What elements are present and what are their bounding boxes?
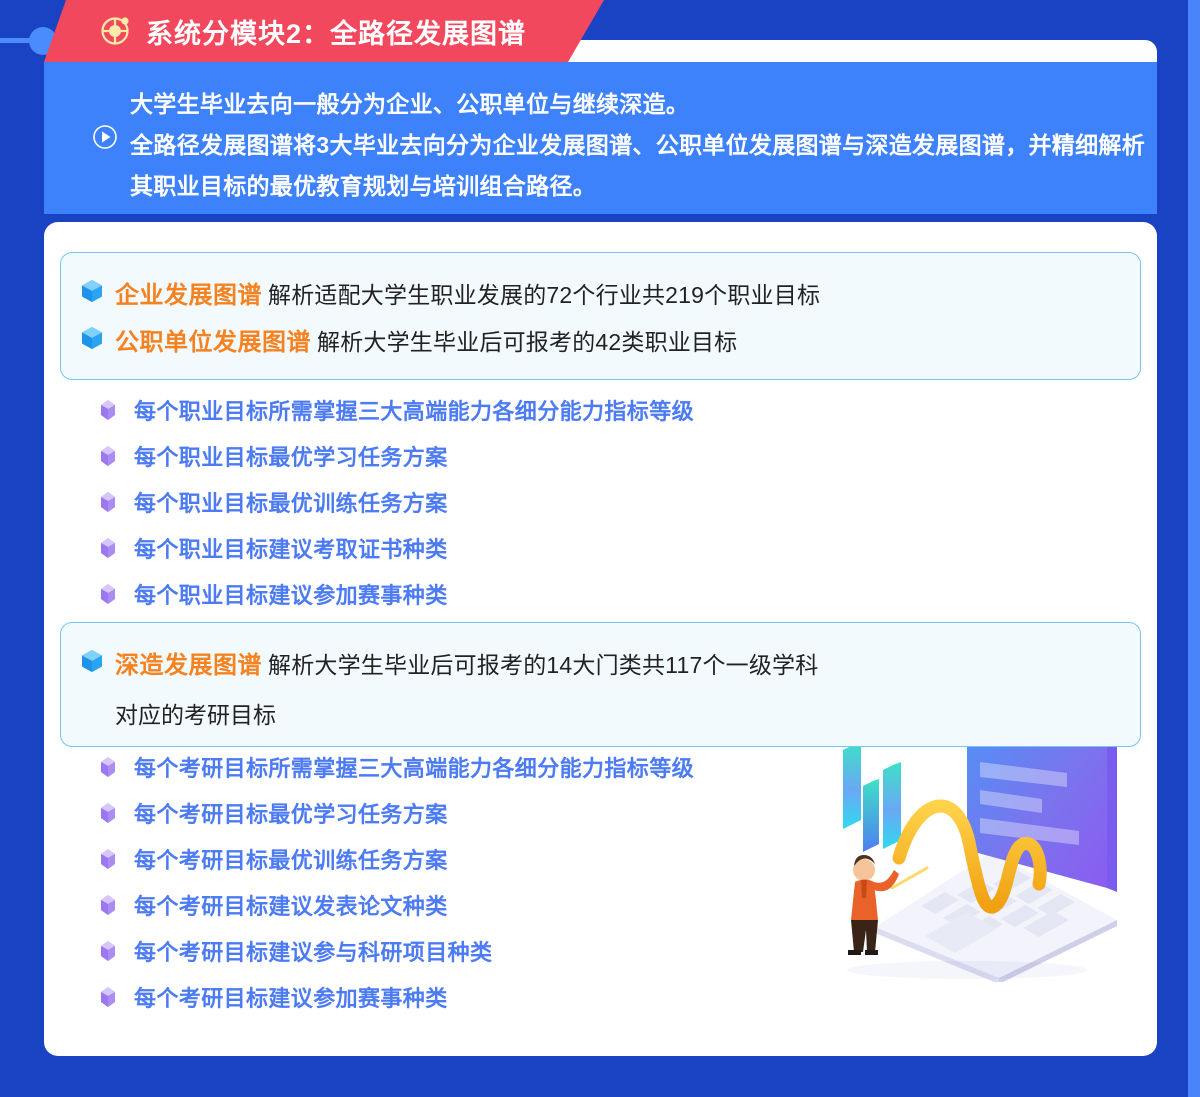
list-item[interactable]: 每个职业目标所需掌握三大高端能力各细分能力指标等级 bbox=[96, 387, 694, 433]
list-item-label: 每个考研目标最优训练任务方案 bbox=[120, 843, 448, 875]
purple-gem-icon bbox=[96, 582, 120, 606]
info-description: 解析大学生毕业后可报考的14大门类共117个一级学科 bbox=[262, 652, 818, 678]
bullet-list-postgrad: 每个考研目标所需掌握三大高端能力各细分能力指标等级 每个考研目标最优学习任务方案 bbox=[96, 744, 694, 1020]
intro-text-block: 大学生毕业去向一般分为企业、公职单位与继续深造。 全路径发展图谱将3大毕业去向分… bbox=[130, 62, 1157, 207]
purple-gem-icon bbox=[96, 847, 120, 871]
content-card: 企业发展图谱解析适配大学生职业发展的72个行业共219个职业目标 公职单位发展图… bbox=[44, 222, 1157, 1056]
list-item-label: 每个职业目标建议考取证书种类 bbox=[120, 532, 448, 564]
list-item-label: 每个职业目标建议参加赛事种类 bbox=[120, 578, 448, 610]
info-heading: 企业发展图谱 bbox=[115, 282, 262, 309]
purple-gem-icon bbox=[96, 398, 120, 422]
list-item[interactable]: 每个职业目标最优训练任务方案 bbox=[96, 479, 694, 525]
purple-gem-icon bbox=[96, 985, 120, 1009]
info-box-career: 企业发展图谱解析适配大学生职业发展的72个行业共219个职业目标 公职单位发展图… bbox=[60, 252, 1141, 380]
list-item-label: 每个职业目标最优训练任务方案 bbox=[120, 486, 448, 518]
blue-gem-icon bbox=[79, 325, 105, 351]
list-item[interactable]: 每个考研目标最优学习任务方案 bbox=[96, 790, 694, 836]
info-row: 企业发展图谱解析适配大学生职业发展的72个行业共219个职业目标 bbox=[79, 269, 1140, 316]
list-item-label: 每个考研目标建议发表论文种类 bbox=[120, 889, 448, 921]
poster-root: 系统分模块2：全路径发展图谱 大学生毕业去向一般分为企业、公职单位与继续深造。 … bbox=[0, 0, 1200, 1097]
header-banner: 系统分模块2：全路径发展图谱 bbox=[44, 0, 604, 62]
info-box-postgrad: 深造发展图谱解析大学生毕业后可报考的14大门类共117个一级学科 对应的考研目标 bbox=[60, 622, 1141, 747]
list-item[interactable]: 每个职业目标最优学习任务方案 bbox=[96, 433, 694, 479]
circled-arrow-icon bbox=[92, 124, 118, 150]
list-item-label: 每个考研目标最优学习任务方案 bbox=[120, 797, 448, 829]
purple-gem-icon bbox=[96, 444, 120, 468]
list-item[interactable]: 每个考研目标建议参加赛事种类 bbox=[96, 974, 694, 1020]
purple-gem-icon bbox=[96, 801, 120, 825]
list-item[interactable]: 每个职业目标建议考取证书种类 bbox=[96, 525, 694, 571]
list-item[interactable]: 每个考研目标建议参与科研项目种类 bbox=[96, 928, 694, 974]
purple-gem-icon bbox=[96, 939, 120, 963]
purple-gem-icon bbox=[96, 755, 120, 779]
list-item[interactable]: 每个考研目标所需掌握三大高端能力各细分能力指标等级 bbox=[96, 744, 694, 790]
list-item-label: 每个考研目标建议参与科研项目种类 bbox=[120, 935, 492, 967]
info-body: 企业发展图谱解析适配大学生职业发展的72个行业共219个职业目标 bbox=[105, 275, 820, 310]
header-inner: 系统分模块2：全路径发展图谱 bbox=[44, 12, 526, 51]
info-row: 公职单位发展图谱解析大学生毕业后可报考的42类职业目标 bbox=[79, 316, 1140, 363]
list-item[interactable]: 每个考研目标最优训练任务方案 bbox=[96, 836, 694, 882]
list-item-label: 每个考研目标所需掌握三大高端能力各细分能力指标等级 bbox=[120, 751, 694, 783]
info-row: 深造发展图谱解析大学生毕业后可报考的14大门类共117个一级学科 bbox=[79, 639, 1140, 686]
purple-gem-icon bbox=[96, 490, 120, 514]
purple-gem-icon bbox=[96, 893, 120, 917]
info-body: 公职单位发展图谱解析大学生毕业后可报考的42类职业目标 bbox=[105, 322, 737, 357]
list-item-label: 每个考研目标建议参加赛事种类 bbox=[120, 981, 448, 1013]
list-item[interactable]: 每个职业目标建议参加赛事种类 bbox=[96, 571, 694, 617]
list-item-label: 每个职业目标所需掌握三大高端能力各细分能力指标等级 bbox=[120, 394, 694, 426]
bullet-list-career: 每个职业目标所需掌握三大高端能力各细分能力指标等级 每个职业目标最优学习任务方案 bbox=[96, 387, 694, 617]
list-item-label: 每个职业目标最优学习任务方案 bbox=[120, 440, 448, 472]
info-description: 解析适配大学生职业发展的72个行业共219个职业目标 bbox=[262, 282, 820, 308]
intro-line-2: 全路径发展图谱将3大毕业去向分为企业发展图谱、公职单位发展图谱与深造发展图谱，并… bbox=[130, 125, 1157, 207]
list-item[interactable]: 每个考研目标建议发表论文种类 bbox=[96, 882, 694, 928]
page-title: 系统分模块2：全路径发展图谱 bbox=[146, 12, 526, 51]
blue-gem-icon bbox=[79, 648, 105, 674]
info-body: 深造发展图谱解析大学生毕业后可报考的14大门类共117个一级学科 bbox=[105, 645, 818, 680]
info-description: 解析大学生毕业后可报考的42类职业目标 bbox=[311, 329, 737, 355]
intro-line-1: 大学生毕业去向一般分为企业、公职单位与继续深造。 bbox=[130, 84, 1157, 125]
blue-gem-icon bbox=[79, 278, 105, 304]
info-continuation-line: 对应的考研目标 bbox=[79, 686, 1140, 730]
intro-panel: 大学生毕业去向一般分为企业、公职单位与继续深造。 全路径发展图谱将3大毕业去向分… bbox=[44, 62, 1157, 214]
info-heading: 深造发展图谱 bbox=[115, 652, 262, 679]
purple-gem-icon bbox=[96, 536, 120, 560]
info-heading: 公职单位发展图谱 bbox=[115, 329, 311, 356]
header-white-band bbox=[560, 40, 1157, 62]
right-edge-strip bbox=[1188, 0, 1200, 1097]
target-compass-icon bbox=[98, 14, 132, 48]
